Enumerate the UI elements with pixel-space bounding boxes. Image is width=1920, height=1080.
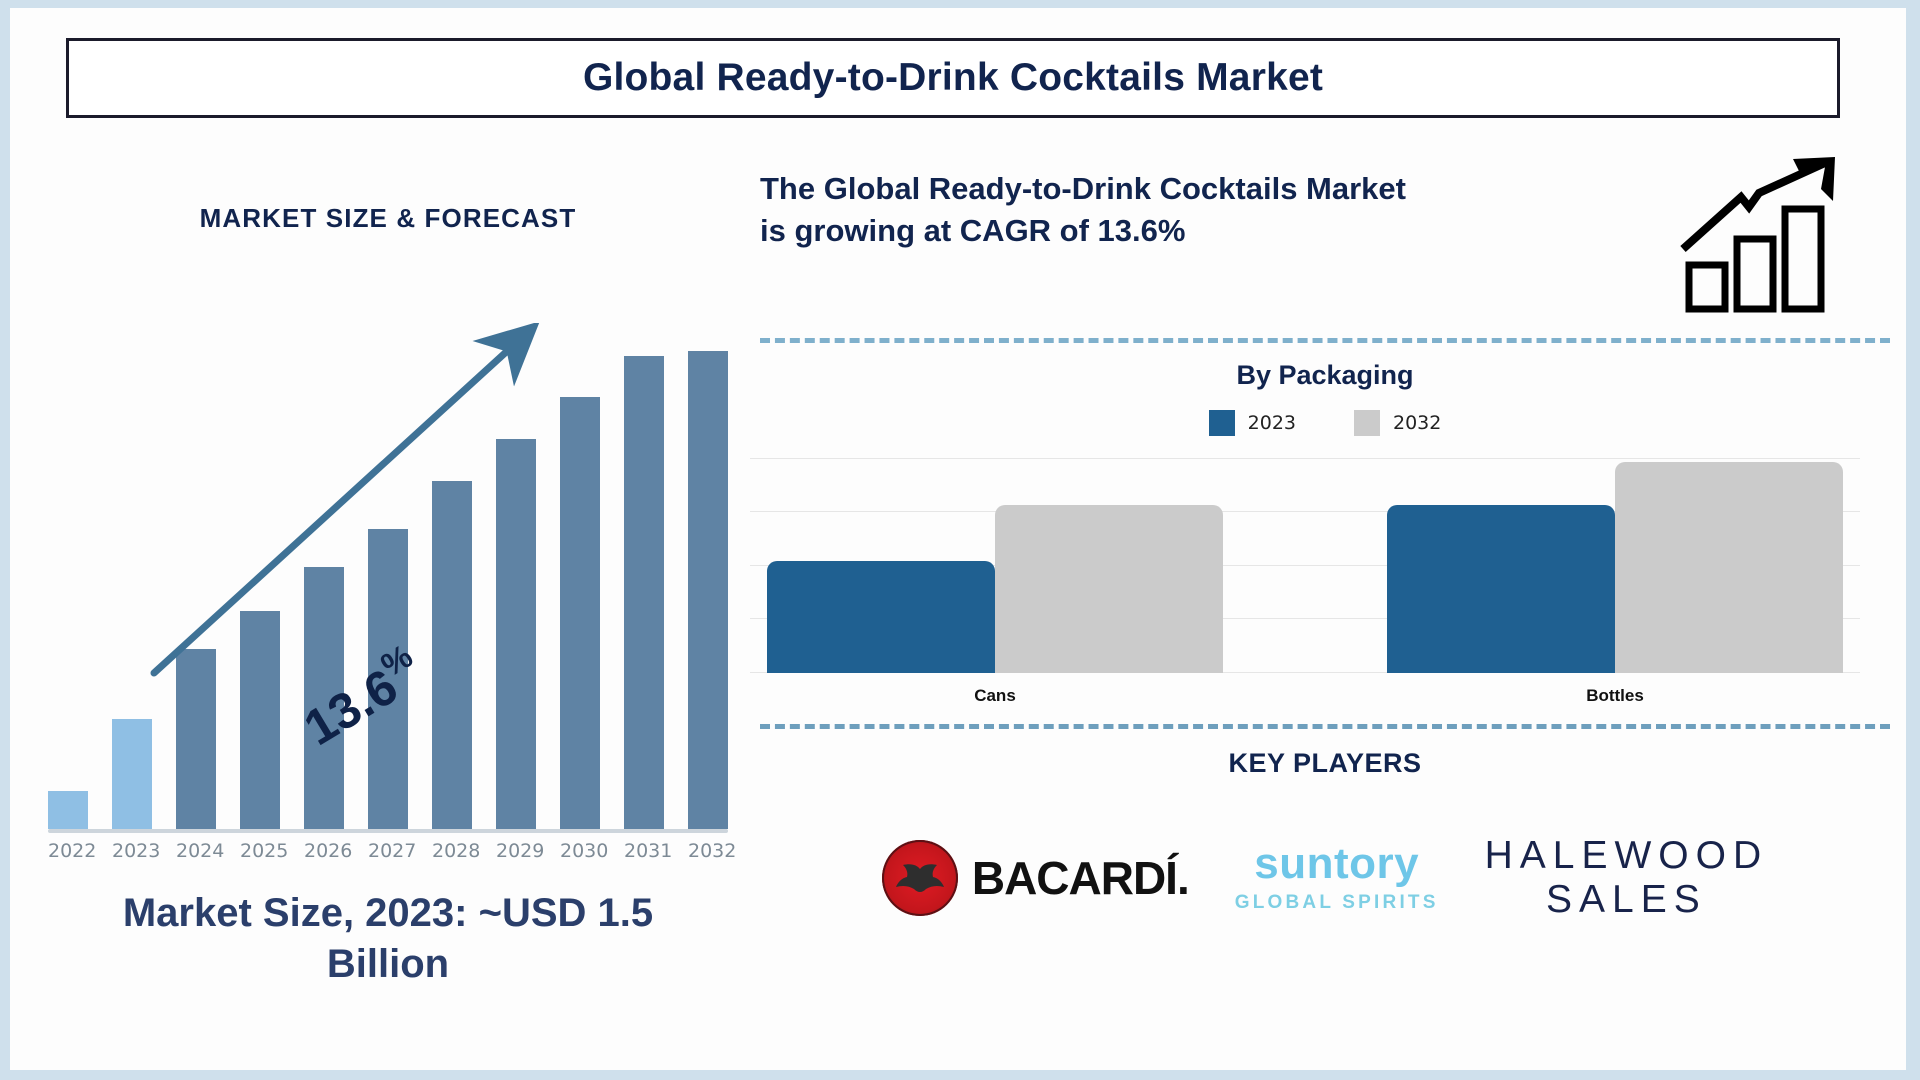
legend-swatch-icon <box>1354 410 1380 436</box>
bar-2023 <box>112 719 152 829</box>
packaging-bar-cans-2023 <box>767 561 995 673</box>
year-label: 2032 <box>688 840 728 862</box>
logo-bacardi: BACARDÍ. <box>882 840 1189 916</box>
divider-bottom <box>760 724 1890 729</box>
market-size-value: Market Size, 2023: ~USD 1.5 Billion <box>28 888 748 990</box>
legend-label: 2023 <box>1248 412 1296 434</box>
market-size-chart: 13.6% <box>38 323 738 833</box>
legend-item-2032: 2032 <box>1354 410 1441 436</box>
year-axis: 2022 2023 2024 2025 2026 2027 2028 2029 … <box>48 840 728 862</box>
logo-suntory: suntory GLOBAL SPIRITS <box>1235 842 1439 914</box>
packaging-legend: 2023 2032 <box>760 410 1890 436</box>
insights-panel: The Global Ready-to-Drink Cocktails Mark… <box>750 148 1900 1063</box>
title-box: Global Ready-to-Drink Cocktails Market <box>66 38 1840 118</box>
year-label: 2024 <box>176 840 216 862</box>
logo-suntory-wordmark: suntory <box>1254 842 1419 886</box>
logo-suntory-tagline: GLOBAL SPIRITS <box>1235 892 1439 914</box>
packaging-bar-groups <box>750 458 1860 673</box>
bar-2032 <box>688 351 728 829</box>
bar-2024 <box>176 649 216 829</box>
legend-item-2023: 2023 <box>1209 410 1296 436</box>
bar-2028 <box>432 481 472 829</box>
year-label: 2029 <box>496 840 536 862</box>
packaging-bar-bottles-2023 <box>1387 505 1615 673</box>
legend-label: 2032 <box>1393 412 1441 434</box>
packaging-group-cans <box>750 458 1240 673</box>
bar-2022 <box>48 791 88 829</box>
key-players-logos: BACARDÍ. suntory GLOBAL SPIRITS HALEWOOD… <box>760 803 1890 953</box>
year-label: 2027 <box>368 840 408 862</box>
year-label: 2031 <box>624 840 664 862</box>
legend-swatch-icon <box>1209 410 1235 436</box>
cagr-headline: The Global Ready-to-Drink Cocktails Mark… <box>760 168 1640 252</box>
year-label: 2026 <box>304 840 344 862</box>
logo-halewood-line-2: SALES <box>1546 878 1707 922</box>
packaging-category-label: Cans <box>750 686 1240 706</box>
year-label: 2023 <box>112 840 152 862</box>
logo-halewood-line-1: HALEWOOD <box>1485 834 1769 878</box>
key-players-title: KEY PLAYERS <box>760 748 1890 779</box>
packaging-category-axis: Cans Bottles <box>750 686 1860 706</box>
bar-2031 <box>624 356 664 829</box>
divider-top <box>760 338 1890 343</box>
packaging-bar-bottles-2032 <box>1615 462 1843 673</box>
chart-baseline <box>48 829 728 833</box>
market-size-bars <box>48 353 728 829</box>
bar-2029 <box>496 439 536 829</box>
bar-2025 <box>240 611 280 829</box>
year-label: 2030 <box>560 840 600 862</box>
headline-line-2: is growing at CAGR of 13.6% <box>760 210 1640 252</box>
packaging-section-title: By Packaging <box>760 360 1890 391</box>
year-label: 2022 <box>48 840 88 862</box>
packaging-group-bottles <box>1370 458 1860 673</box>
headline-line-1: The Global Ready-to-Drink Cocktails Mark… <box>760 168 1640 210</box>
logo-halewood: HALEWOOD SALES <box>1485 834 1769 921</box>
infographic-page: Global Ready-to-Drink Cocktails Market M… <box>10 8 1906 1070</box>
packaging-bar-cans-2032 <box>995 505 1223 673</box>
market-size-panel: MARKET SIZE & FORECAST <box>28 148 748 1058</box>
packaging-chart: Cans Bottles <box>750 458 1860 708</box>
packaging-category-label: Bottles <box>1370 686 1860 706</box>
market-size-line-1: Market Size, 2023: ~USD <box>123 891 587 935</box>
page-title: Global Ready-to-Drink Cocktails Market <box>583 56 1323 100</box>
bat-shield-icon <box>882 840 958 916</box>
logo-bacardi-wordmark: BACARDÍ. <box>972 851 1189 905</box>
year-label: 2028 <box>432 840 472 862</box>
year-label: 2025 <box>240 840 280 862</box>
bar-2030 <box>560 397 600 829</box>
growth-arrow-bars-icon <box>1675 153 1865 313</box>
market-size-heading: MARKET SIZE & FORECAST <box>28 203 748 234</box>
